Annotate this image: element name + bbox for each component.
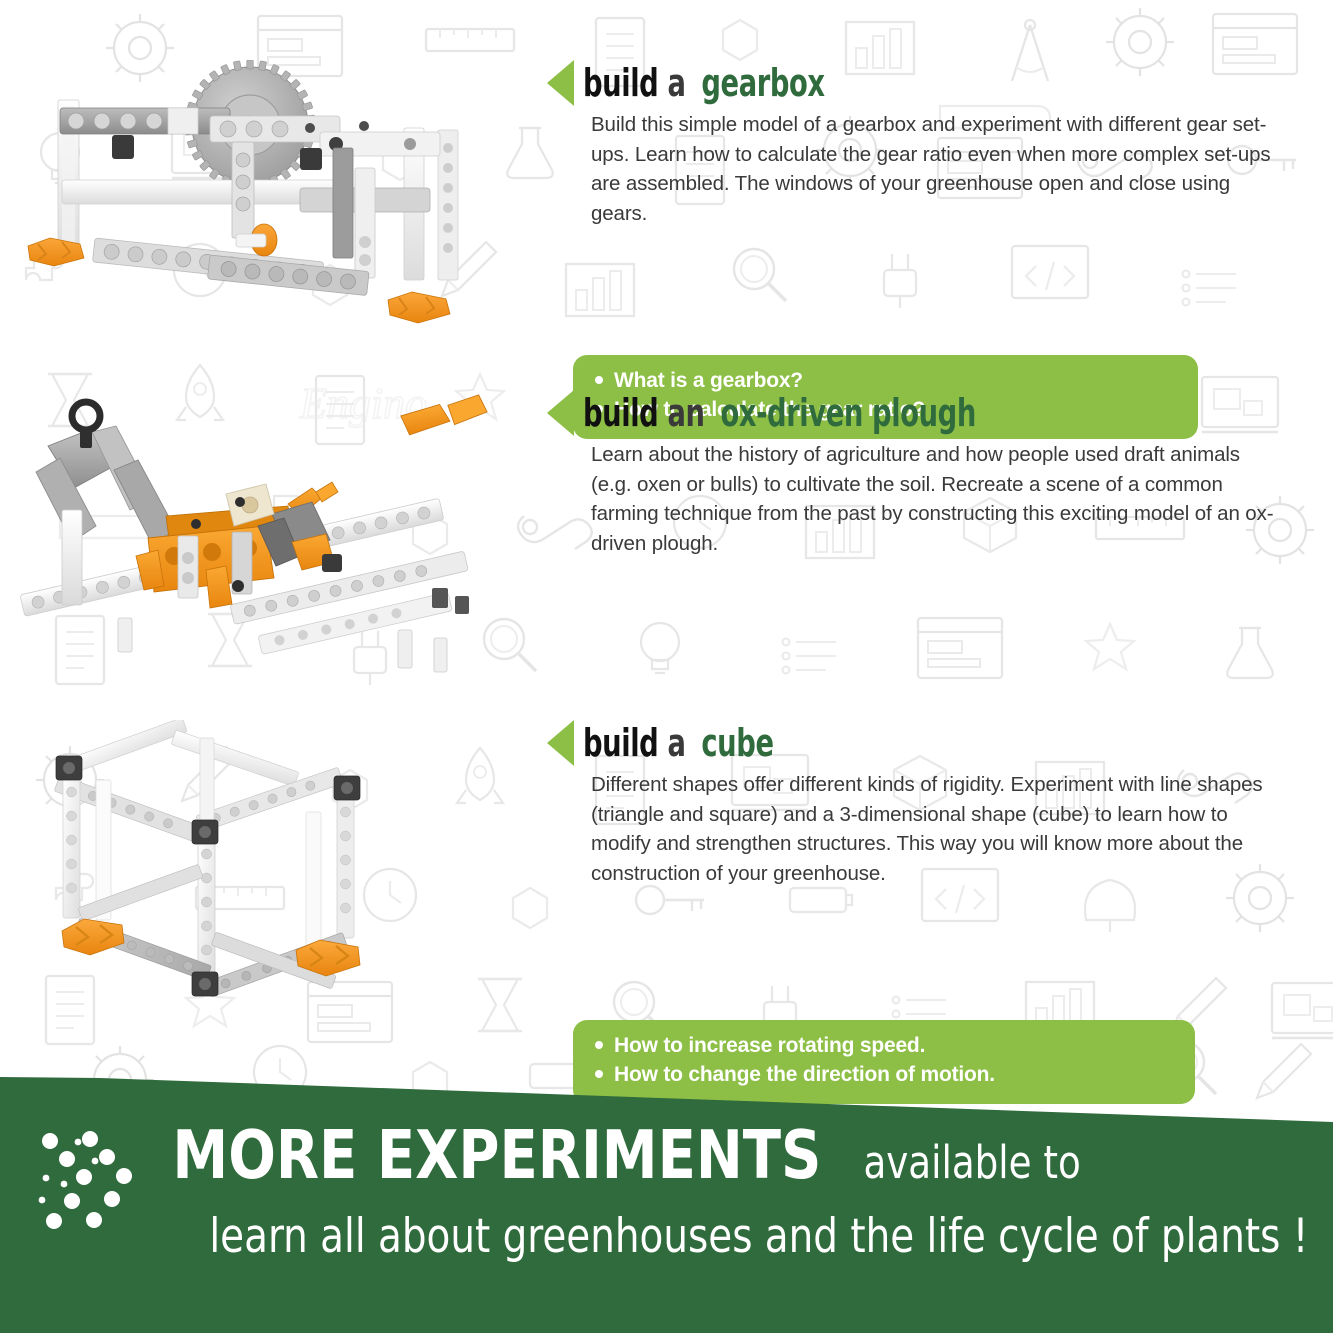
plough-heading-row: build an ox-driven plough (545, 390, 1285, 436)
headline-build-word: build (583, 721, 658, 765)
gearbox-headline: build a gearbox (583, 64, 825, 102)
headline-topic-word: cube (701, 721, 773, 765)
footer-headline-row: MORE EXPERIMENTS available to (148, 1122, 1298, 1189)
headline-topic-word: gearbox (701, 61, 824, 105)
footer-banner: MORE EXPERIMENTS available to learn all … (0, 1058, 1333, 1333)
section-gearbox: build a gearbox Build this simple model … (0, 60, 1333, 350)
gearbox-heading-row: build a gearbox (545, 60, 1285, 106)
cube-text-column: build a cube Different shapes offer diff… (545, 720, 1285, 889)
section-cube: build a cube Different shapes offer diff… (0, 720, 1333, 1020)
left-triangle-icon (547, 390, 574, 436)
headline-article-word: an (668, 391, 705, 435)
section-ox-driven-plough: build an ox-driven plough Learn about th… (0, 390, 1333, 680)
footer-headline-light: available to (863, 1140, 1080, 1185)
bullet-icon (595, 376, 603, 384)
double-chevron-dots-icon (34, 1128, 144, 1243)
gearbox-photo (0, 60, 545, 350)
footer-headline-strong: MORE EXPERIMENTS (172, 1122, 821, 1189)
gearbox-body-text: Build this simple model of a gearbox and… (591, 110, 1281, 229)
bullet-icon (595, 1041, 603, 1049)
headline-build-word: build (583, 391, 658, 435)
question-text: How to increase rotating speed. (614, 1032, 925, 1061)
question-item: How to increase rotating speed. (595, 1032, 1173, 1061)
plough-text-column: build an ox-driven plough Learn about th… (545, 390, 1285, 559)
left-triangle-icon (547, 720, 574, 766)
headline-article-word: a (668, 61, 686, 105)
cube-heading-row: build a cube (545, 720, 1285, 766)
footer-subline: learn all about greenhouses and the life… (209, 1213, 1252, 1260)
gearbox-text-column: build a gearbox Build this simple model … (545, 60, 1285, 229)
plough-body-text: Learn about the history of agriculture a… (591, 440, 1281, 559)
plough-headline: build an ox-driven plough (583, 394, 976, 432)
cube-body-text: Different shapes offer different kinds o… (591, 770, 1281, 889)
headline-topic-word: ox-driven plough (720, 391, 975, 435)
headline-build-word: build (583, 61, 658, 105)
headline-article-word: a (668, 721, 686, 765)
footer-text-block: MORE EXPERIMENTS available to learn all … (148, 1122, 1298, 1260)
left-triangle-icon (547, 60, 574, 106)
cube-photo (0, 720, 545, 1020)
cube-headline: build a cube (583, 724, 774, 762)
plough-photo (0, 390, 545, 680)
